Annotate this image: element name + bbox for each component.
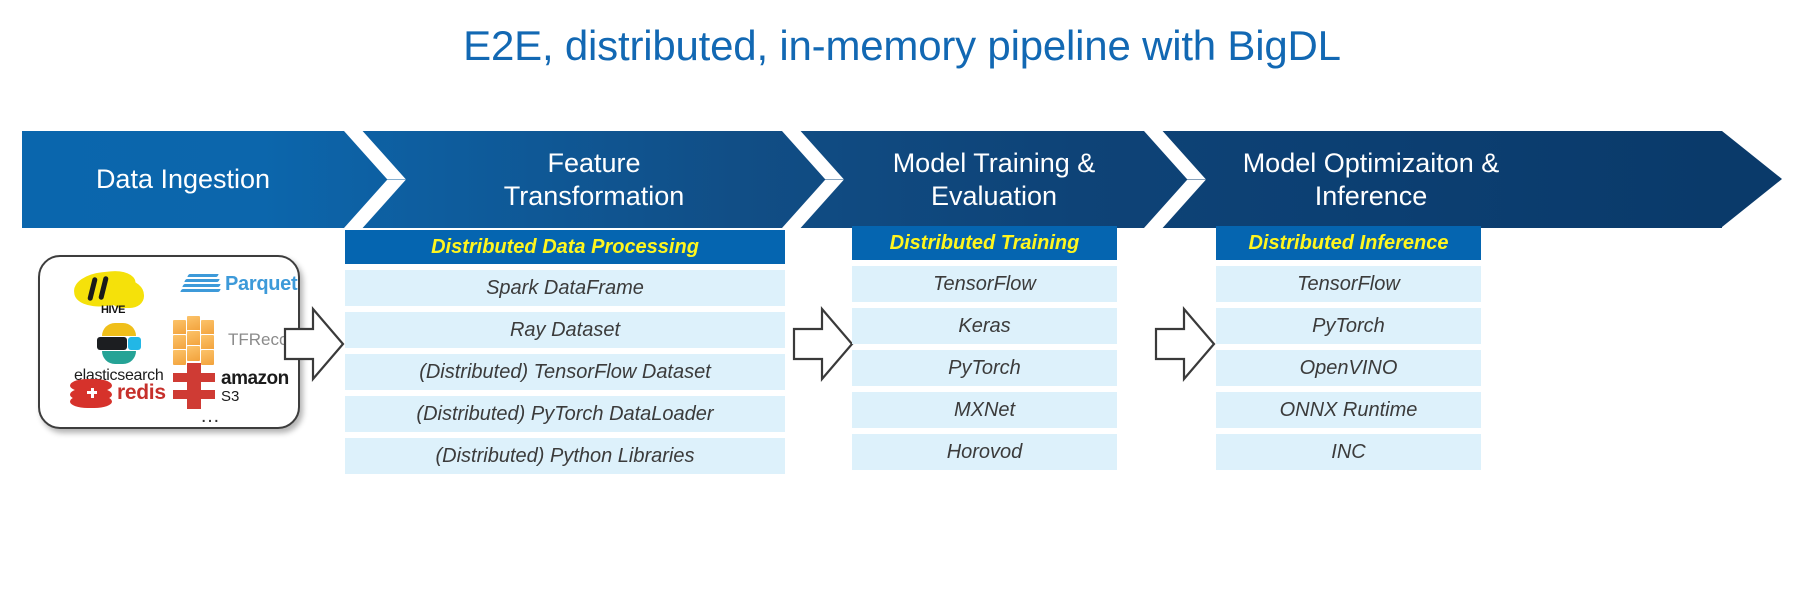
parquet-logo: Parquet	[180, 271, 297, 297]
hive-logo-label: HIVE	[101, 304, 125, 316]
pipeline-stage-model-training-evaluation[interactable]: Model Training & Evaluation	[844, 131, 1144, 228]
stage-label: Feature Transformation	[504, 147, 685, 213]
table-row[interactable]: MXNet	[852, 392, 1117, 428]
table-row[interactable]: Keras	[852, 308, 1117, 344]
table-row[interactable]: PyTorch	[852, 350, 1117, 386]
arrow-training-to-inference	[1154, 305, 1216, 383]
table-row[interactable]: Ray Dataset	[345, 312, 785, 348]
table-header: Distributed Training	[852, 226, 1117, 260]
parquet-icon	[180, 271, 220, 297]
redis-logo-label: redis	[117, 381, 166, 405]
parquet-logo-label: Parquet	[225, 273, 297, 296]
table-distributed-training: Distributed Training TensorFlow Keras Py…	[852, 226, 1117, 470]
table-row[interactable]: TensorFlow	[852, 266, 1117, 302]
arrow-processing-to-training	[792, 305, 854, 383]
pipeline-stage-feature-transformation[interactable]: Feature Transformation	[406, 131, 782, 228]
table-row[interactable]: (Distributed) Python Libraries	[345, 438, 785, 474]
pipeline-stage-data-ingestion[interactable]: Data Ingestion	[22, 131, 344, 228]
banner-arrow-tip	[1722, 131, 1782, 227]
amazon-s3-logo-label: amazon	[221, 369, 289, 388]
chevron-separator-2	[782, 131, 844, 228]
data-sources-box: HIVE Parquet elasticsearch TFRecord redi…	[38, 255, 300, 429]
stage-label: Data Ingestion	[96, 163, 270, 196]
table-distributed-data-processing: Distributed Data Processing Spark DataFr…	[345, 230, 785, 474]
table-row[interactable]: (Distributed) PyTorch DataLoader	[345, 396, 785, 432]
hive-logo: HIVE	[70, 265, 162, 323]
table-distributed-inference: Distributed Inference TensorFlow PyTorch…	[1216, 226, 1481, 470]
table-row[interactable]: TensorFlow	[1216, 266, 1481, 302]
elasticsearch-icon	[97, 323, 141, 365]
table-row[interactable]: INC	[1216, 434, 1481, 470]
hive-icon: HIVE	[70, 270, 148, 318]
stage-label: Model Optimizaiton & Inference	[1243, 147, 1500, 213]
amazon-s3-sub-label: S3	[221, 389, 289, 404]
chevron-separator-1	[344, 131, 406, 228]
table-row[interactable]: ONNX Runtime	[1216, 392, 1481, 428]
redis-icon	[70, 379, 112, 407]
table-header: Distributed Data Processing	[345, 230, 785, 264]
tfrecord-logo: TFRecord	[170, 315, 300, 365]
table-row[interactable]: Horovod	[852, 434, 1117, 470]
table-row[interactable]: PyTorch	[1216, 308, 1481, 344]
table-row[interactable]: (Distributed) TensorFlow Dataset	[345, 354, 785, 390]
chevron-separator-3	[1144, 131, 1206, 228]
stage-label: Model Training & Evaluation	[893, 147, 1096, 213]
table-row[interactable]: OpenVINO	[1216, 350, 1481, 386]
pipeline-banner: Data Ingestion Feature Transformation Mo…	[22, 131, 1782, 228]
arrow-ingestion-to-processing	[283, 305, 345, 383]
elasticsearch-logo: elasticsearch	[74, 323, 163, 385]
amazon-s3-icon	[173, 363, 215, 409]
tfrecord-icon	[170, 315, 222, 365]
table-header: Distributed Inference	[1216, 226, 1481, 260]
pipeline-stage-model-optimization-inference[interactable]: Model Optimizaiton & Inference	[1206, 131, 1536, 228]
more-sources-ellipsis: …	[200, 405, 222, 428]
page-title: E2E, distributed, in-memory pipeline wit…	[0, 22, 1804, 70]
redis-logo: redis	[70, 379, 166, 407]
table-row[interactable]: Spark DataFrame	[345, 270, 785, 306]
amazon-s3-logo: amazon S3	[173, 363, 289, 409]
